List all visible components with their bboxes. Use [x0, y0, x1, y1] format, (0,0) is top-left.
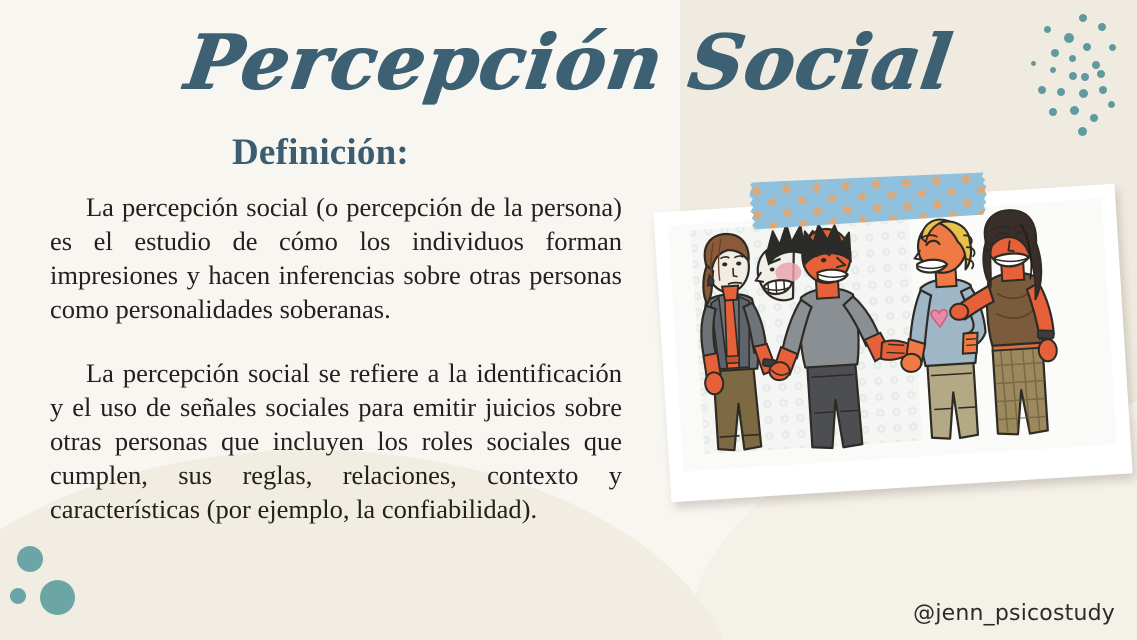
body-text-column: La percepción social (o percepción de la…	[50, 190, 622, 526]
cartoon-people-illustration	[668, 199, 1117, 472]
slide: Percepción Social Definición: La percepc…	[0, 0, 1137, 640]
photo-illustration	[668, 199, 1117, 472]
photo-card	[653, 184, 1132, 502]
watermark-handle: @jenn_psicostudy	[913, 601, 1115, 626]
section-heading: Definición:	[232, 131, 409, 174]
photo-frame	[653, 184, 1132, 502]
teal-circle-small-top	[17, 546, 43, 572]
paragraph-2: La percepción social se refiere a la ide…	[50, 356, 622, 526]
teal-circle-large	[40, 580, 75, 615]
paragraph-1: La percepción social (o percepción de la…	[50, 190, 622, 326]
teal-circle-tiny	[10, 588, 26, 604]
page-title: Percepción Social	[0, 18, 1137, 106]
